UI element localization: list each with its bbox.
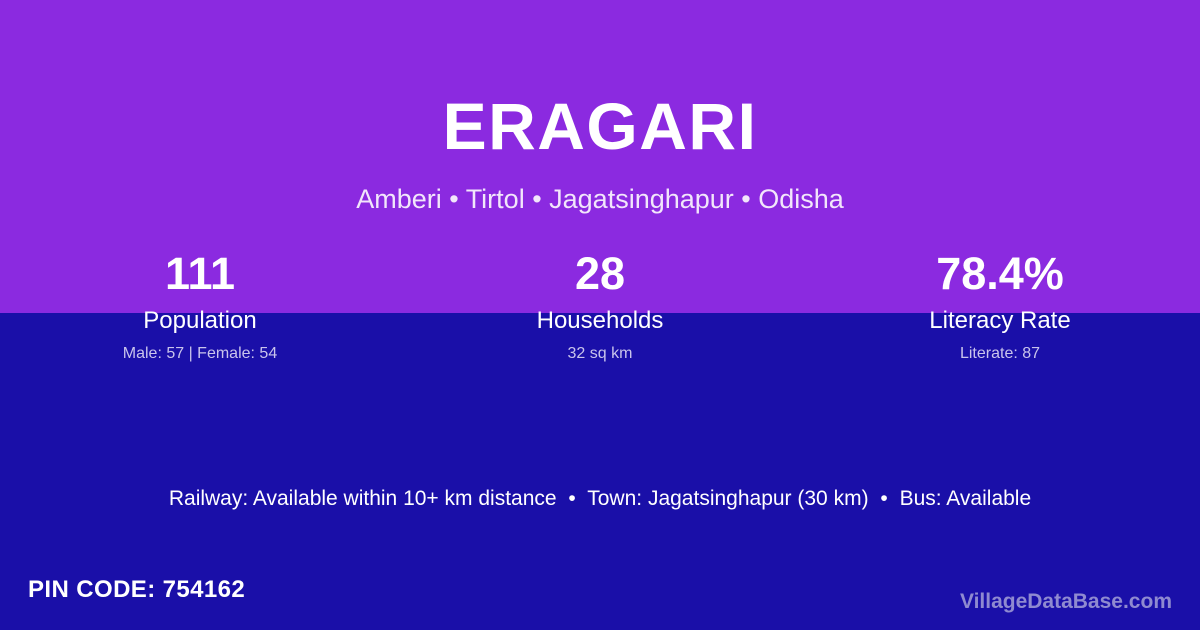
facility-railway: Railway: Available within 10+ km distanc…: [169, 487, 557, 510]
facility-bus: Bus: Available: [900, 487, 1032, 510]
page-title: ERAGARI: [0, 88, 1200, 164]
stat-sublabel: Literate: 87: [800, 343, 1200, 365]
facility-separator: •: [874, 487, 893, 510]
stat-population: 111 Population Male: 57 | Female: 54: [0, 246, 400, 365]
pin-code: PIN CODE: 754162: [28, 574, 245, 606]
stat-literacy-rate: 78.4% Literacy Rate Literate: 87: [800, 246, 1200, 365]
stat-households: 28 Households 32 sq km: [400, 246, 800, 365]
stats-row: 111 Population Male: 57 | Female: 54 28 …: [0, 246, 1200, 365]
stat-label: Population: [0, 305, 400, 337]
stat-value: 28: [400, 246, 800, 302]
facilities-line: Railway: Available within 10+ km distanc…: [0, 484, 1200, 514]
facility-separator: •: [562, 487, 581, 510]
stat-label: Households: [400, 305, 800, 337]
stat-sublabel: 32 sq km: [400, 343, 800, 365]
stat-value: 111: [0, 246, 400, 302]
breadcrumb: Amberi • Tirtol • Jagatsinghapur • Odish…: [0, 180, 1200, 218]
stat-label: Literacy Rate: [800, 305, 1200, 337]
site-brand: VillageDataBase.com: [960, 588, 1172, 616]
stat-value: 78.4%: [800, 246, 1200, 302]
facility-town: Town: Jagatsinghapur (30 km): [587, 487, 868, 510]
village-info-card: ERAGARI Amberi • Tirtol • Jagatsinghapur…: [0, 0, 1200, 630]
stat-sublabel: Male: 57 | Female: 54: [0, 343, 400, 365]
